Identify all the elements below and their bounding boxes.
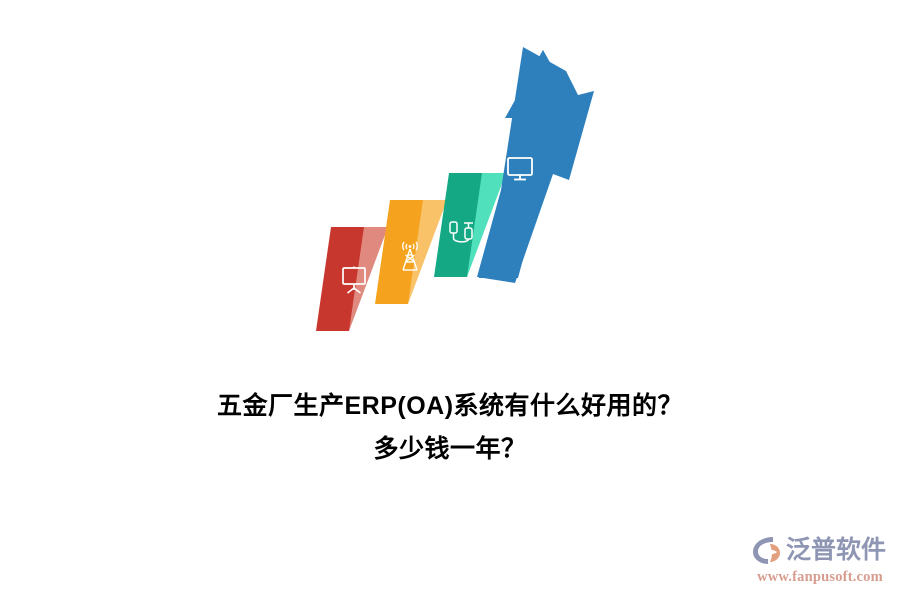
brand-name: 泛普软件: [786, 533, 886, 567]
brand-watermark: 泛普软件 www.fanpusoft.com: [750, 530, 890, 592]
headline-line-1: 五金厂生产ERP(OA)系统有什么好用的？: [0, 385, 900, 428]
upward-arrow: [477, 47, 594, 283]
page-title: 五金厂生产ERP(OA)系统有什么好用的？ 多少钱一年？: [0, 385, 900, 471]
bar-orange: [375, 200, 447, 304]
brand-row: 泛普软件: [750, 530, 890, 570]
brand-url: www.fanpusoft.com: [750, 569, 890, 586]
bar-red: [316, 227, 388, 331]
fanpu-logo-icon: [750, 533, 784, 567]
fanpu-logo-svg: [750, 533, 784, 567]
rising-arrow-graphic: [0, 0, 900, 370]
hero-illustration: [0, 0, 900, 370]
headline-line-2: 多少钱一年？: [0, 428, 900, 471]
